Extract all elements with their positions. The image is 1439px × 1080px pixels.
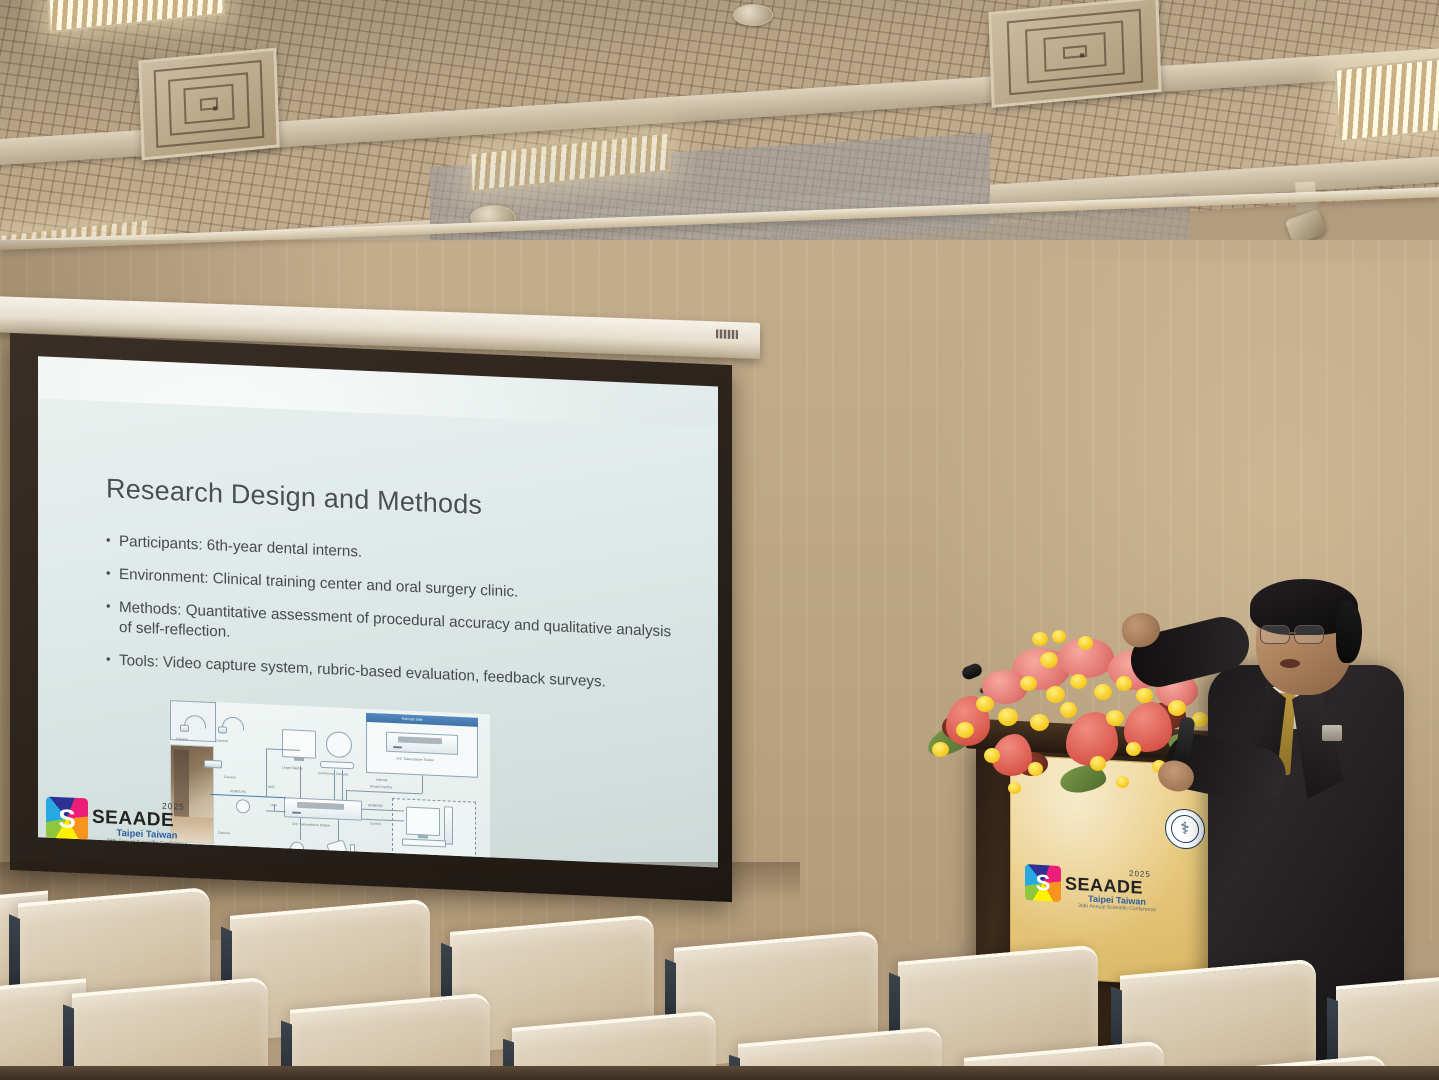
- hvac-diffuser-icon: [988, 0, 1161, 108]
- diagram-link: [342, 770, 343, 800]
- diagram-link: [300, 766, 301, 798]
- camera-label: Camera: [224, 775, 236, 780]
- local-station-label: JVC Telemedicine Station: [292, 822, 330, 828]
- seaade-swirl-icon: [46, 797, 88, 841]
- remote-side-label: Remote Side: [402, 716, 423, 722]
- pc-tower-icon: [444, 806, 453, 844]
- pc-monitor-icon: [406, 807, 440, 837]
- logo-fullname-line2: for Dental Education: [126, 853, 166, 860]
- projection-screen: Research Design and Methods • Participan…: [10, 333, 732, 902]
- fixed-line-label: (Fixed-line/5G): [370, 784, 392, 789]
- presenter-mouth: [1280, 659, 1300, 668]
- eyeglasses-bridge: [1290, 632, 1296, 634]
- diagram-link: [346, 790, 422, 794]
- local-telemedicine-station-icon[interactable]: [284, 797, 362, 820]
- logo-fullname-line1: South East Asia Association: [126, 848, 180, 855]
- hdmi-sdi-label: HDMI/SDI: [368, 803, 383, 808]
- logo-pill: SEAADE: [92, 847, 123, 857]
- screen-surface: Research Design and Methods • Participan…: [38, 356, 718, 867]
- auditorium-seating: [0, 885, 1439, 1080]
- logo-year: 2025: [1129, 870, 1151, 879]
- removable-hdd-icon: [326, 839, 347, 857]
- eyeglasses-icon: [1294, 625, 1324, 644]
- camera-label: Camera: [218, 830, 230, 835]
- lan-label: LAN: [270, 803, 276, 808]
- pc-server-label: PC / Server: [418, 853, 435, 858]
- diagram-link: [300, 818, 301, 840]
- seaade-logo-slide: 2025 SEAADE Taipei Taiwan 36th Annual Sc…: [46, 797, 202, 852]
- recessed-ceiling-light-icon: [1335, 55, 1439, 142]
- camera-label: Camera: [216, 738, 228, 743]
- usb-stick-icon: [350, 844, 355, 856]
- screen-housing-endcap: [716, 329, 738, 339]
- conference-speakerphone-icon: [320, 761, 354, 770]
- camera-label: Camera: [176, 736, 188, 741]
- bullet-icon: •: [106, 531, 119, 552]
- large-display-icon: [282, 729, 316, 759]
- conference-camera-icon: [326, 731, 352, 758]
- smoke-detector-icon: [733, 4, 773, 26]
- diagram-link: [338, 820, 339, 842]
- diagram-link: [334, 769, 335, 799]
- diagram-link: [422, 775, 423, 793]
- logo-fullname: South East Asia Association for Dental E…: [126, 848, 180, 861]
- lecture-hall-scene: Research Design and Methods • Participan…: [0, 0, 1439, 1080]
- internet-label: Internet: [376, 777, 387, 782]
- slide-title: Research Design and Methods: [106, 473, 482, 521]
- chair: [72, 976, 268, 1080]
- control-button-icon: [290, 841, 304, 856]
- control-link-label: Control: [370, 821, 381, 826]
- presenter-hair: [1336, 601, 1362, 663]
- presenter-badge: [1322, 725, 1342, 741]
- hdmi-lan-label: HDMI/LAN: [230, 789, 246, 794]
- bullet-icon: •: [106, 650, 119, 671]
- telemedicine-system-diagram: Remote Side JVC Telemedicine Station Int…: [170, 700, 490, 867]
- wifi-label: WiFi: [268, 784, 275, 789]
- remote-telemedicine-station-icon: [386, 732, 458, 755]
- floor: [0, 1066, 1439, 1080]
- room-camera-icon: [204, 760, 222, 769]
- bullet-icon: •: [106, 597, 119, 638]
- diagram-link-wifi: [210, 794, 286, 799]
- diagram-link: [266, 748, 267, 796]
- presentation-slide: Research Design and Methods • Participan…: [38, 398, 718, 867]
- logo-year: 2025: [162, 802, 185, 812]
- logo-name: SEAADE: [92, 808, 202, 832]
- slide-bullet-list: • Participants: 6th-year dental interns.…: [106, 531, 686, 709]
- bullet-icon: •: [106, 564, 119, 585]
- hvac-diffuser-icon: [138, 48, 279, 161]
- eyeglasses-icon: [1260, 625, 1290, 644]
- diagram-link: [266, 810, 286, 812]
- camera-lens-icon: [236, 799, 250, 814]
